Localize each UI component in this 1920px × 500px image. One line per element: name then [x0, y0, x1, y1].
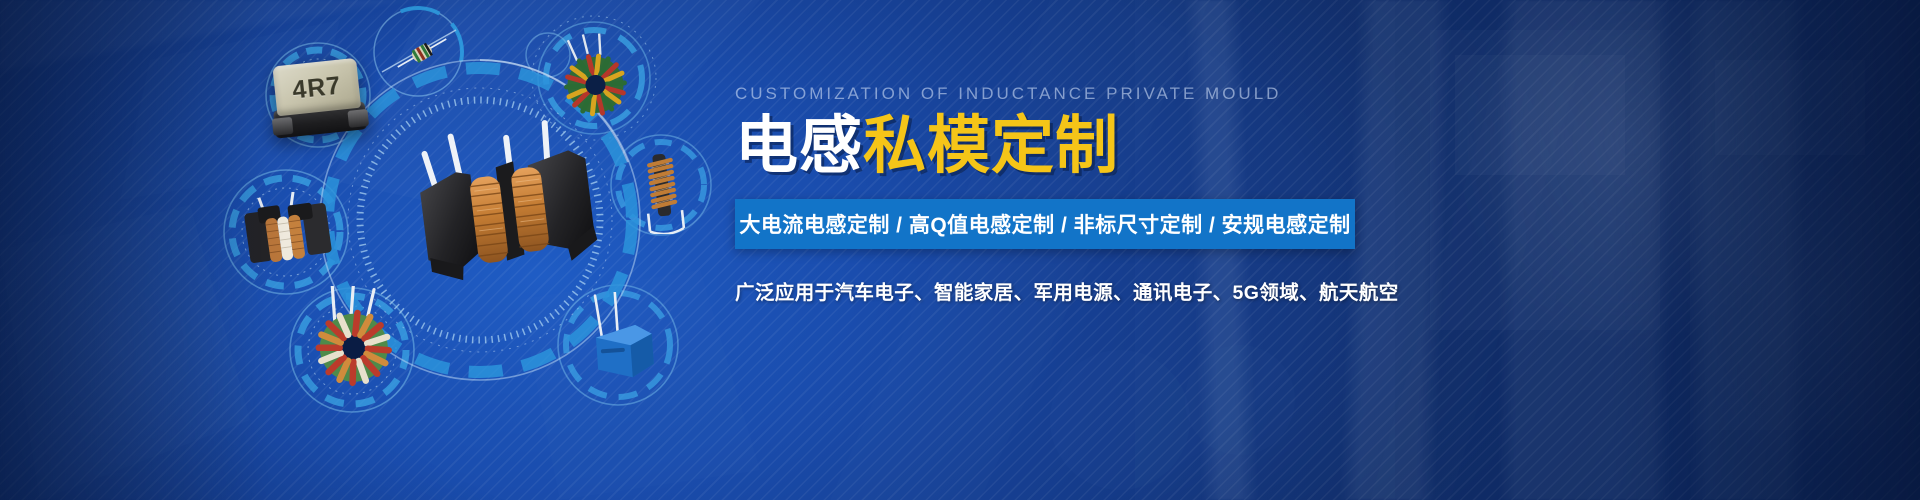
promo-banner: 4R7	[0, 0, 1920, 500]
headline-white-part: 电感	[735, 111, 863, 181]
banner-description: 广泛应用于汽车电子、智能家居、军用电源、通讯电子、5G领域、航天航空	[735, 276, 1395, 305]
banner-text-block: CUSTOMIZATION OF INDUCTANCE PRIVATE MOUL…	[735, 84, 1395, 305]
feature-list-text: 大电流电感定制 / 高Q值电感定制 / 非标尺寸定制 / 安规电感定制	[739, 209, 1350, 239]
headline-yellow-part: 私模定制	[863, 111, 1119, 181]
feature-list-bar: 大电流电感定制 / 高Q值电感定制 / 非标尺寸定制 / 安规电感定制	[735, 199, 1355, 249]
page-title: 电感私模定制	[735, 113, 1395, 180]
banner-eyebrow: CUSTOMIZATION OF INDUCTANCE PRIVATE MOUL…	[735, 84, 1395, 104]
